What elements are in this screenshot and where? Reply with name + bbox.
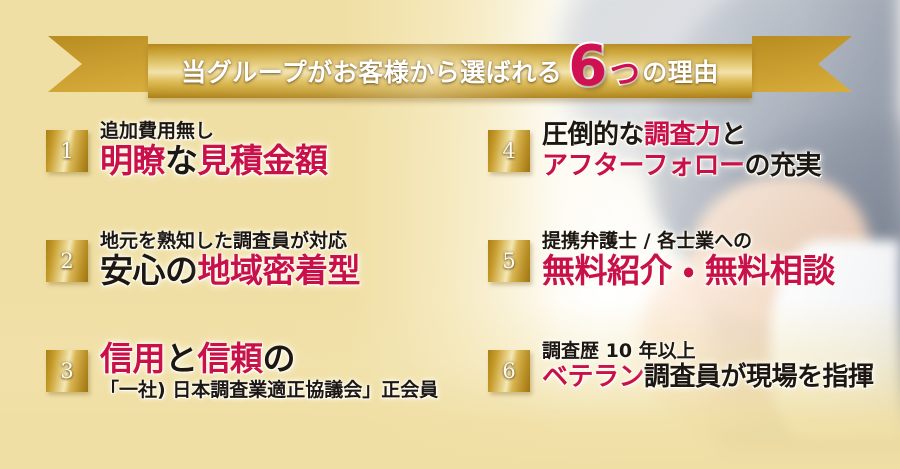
promo-banner: 当グループがお客様から選ばれる6つの理由 1追加費用無し明瞭な見積金額4圧倒的な… — [0, 0, 900, 469]
reason-text-2: 地元を熟知した調査員が対応安心の地域密着型 — [100, 228, 360, 291]
reason-5-line2: 無料紹介 ・ 無料相談 — [542, 252, 835, 291]
reason-text-3: 信用と信頼の「一社) 日本調査業適正協議会」正会員 — [100, 338, 438, 401]
reason-6-line2: ベテラン調査員が現場を指揮 — [542, 362, 874, 393]
reason-badge-number: 2 — [60, 249, 73, 273]
reason-badge-number: 3 — [60, 359, 73, 383]
headline-counter: つ — [610, 49, 641, 93]
reason-3-line1-segment: と — [165, 339, 198, 378]
reason-badge-3: 3 — [46, 350, 88, 392]
reason-text-4: 圧倒的な調査力とアフターフォローの充実 — [542, 118, 821, 181]
reason-badge-number: 1 — [60, 139, 73, 163]
reason-6-line2-segment: ベテラン — [542, 362, 644, 392]
reason-badge-number: 4 — [502, 139, 515, 163]
reason-2-line2: 安心の地域密着型 — [100, 252, 360, 291]
reason-5-line2-segment: 無料紹介 ・ 無料相談 — [542, 251, 835, 290]
reason-item-4: 4圧倒的な調査力とアフターフォローの充実 — [458, 118, 900, 228]
reason-1-line1: 追加費用無し — [100, 120, 328, 142]
reason-4-line2-segment: の充実 — [744, 151, 821, 181]
reason-3-line1-segment: の — [263, 339, 296, 378]
reason-2-line2-segment: 安心の — [100, 251, 198, 290]
headline-prefix: 当グループがお客様から選ばれる — [181, 53, 562, 89]
reason-text-5: 提携弁護士 / 各士業への無料紹介 ・ 無料相談 — [542, 228, 835, 291]
reason-item-5: 5提携弁護士 / 各士業への無料紹介 ・ 無料相談 — [458, 228, 900, 338]
reason-1-line2-segment: 明瞭 — [100, 141, 165, 180]
reason-item-1: 1追加費用無し明瞭な見積金額 — [0, 118, 442, 228]
reason-2-line1: 地元を熟知した調査員が対応 — [100, 230, 360, 252]
reason-6-line2-segment: 調査員が現場を指揮 — [644, 362, 874, 392]
reason-badge-2: 2 — [46, 240, 88, 282]
reason-3-line1: 信用と信頼の — [100, 340, 438, 379]
reason-4-line1-segment: 圧倒的な — [542, 120, 644, 150]
reason-5-line1: 提携弁護士 / 各士業への — [542, 230, 835, 252]
reason-text-1: 追加費用無し明瞭な見積金額 — [100, 118, 328, 181]
reason-1-line2-segment: 見積金額 — [198, 141, 328, 180]
reason-item-6: 6調査歴 10 年以上ベテラン調査員が現場を指揮 — [458, 338, 900, 458]
reason-badge-number: 6 — [502, 359, 515, 383]
reason-4-line1-segment: 調査力 — [644, 120, 721, 150]
reason-badge-1: 1 — [46, 130, 88, 172]
page-title: 当グループがお客様から選ばれる6つの理由 — [148, 44, 752, 98]
reason-4-line2-segment: アフターフォロー — [542, 151, 744, 181]
reason-text-6: 調査歴 10 年以上ベテラン調査員が現場を指揮 — [542, 338, 874, 393]
reason-badge-5: 5 — [488, 240, 530, 282]
reason-3-line1-segment: 信用 — [100, 339, 165, 378]
reason-badge-number: 5 — [502, 249, 515, 273]
ribbon-tail-left — [48, 36, 148, 92]
reason-badge-6: 6 — [488, 350, 530, 392]
reason-item-3: 3信用と信頼の「一社) 日本調査業適正協議会」正会員 — [0, 338, 442, 458]
ribbon-tail-right — [752, 36, 852, 92]
reason-1-line2-segment: な — [165, 141, 198, 180]
reasons-grid: 1追加費用無し明瞭な見積金額4圧倒的な調査力とアフターフォローの充実2地元を熟知… — [0, 118, 900, 463]
reason-item-2: 2地元を熟知した調査員が対応安心の地域密着型 — [0, 228, 442, 338]
headline-suffix: の理由 — [642, 53, 719, 89]
reason-4-line2: アフターフォローの充実 — [542, 151, 821, 182]
reason-3-line1-segment: 信頼 — [198, 339, 263, 378]
reason-2-line2-segment: 地域密着型 — [198, 251, 361, 290]
reason-3-line2: 「一社) 日本調査業適正協議会」正会員 — [100, 379, 438, 401]
reason-4-line1: 圧倒的な調査力と — [542, 120, 821, 151]
headline-ribbon: 当グループがお客様から選ばれる6つの理由 — [0, 30, 900, 98]
reason-badge-4: 4 — [488, 130, 530, 172]
reason-4-line1-segment: と — [721, 120, 747, 150]
reason-1-line2: 明瞭な見積金額 — [100, 142, 328, 181]
reason-6-line1: 調査歴 10 年以上 — [542, 340, 874, 362]
